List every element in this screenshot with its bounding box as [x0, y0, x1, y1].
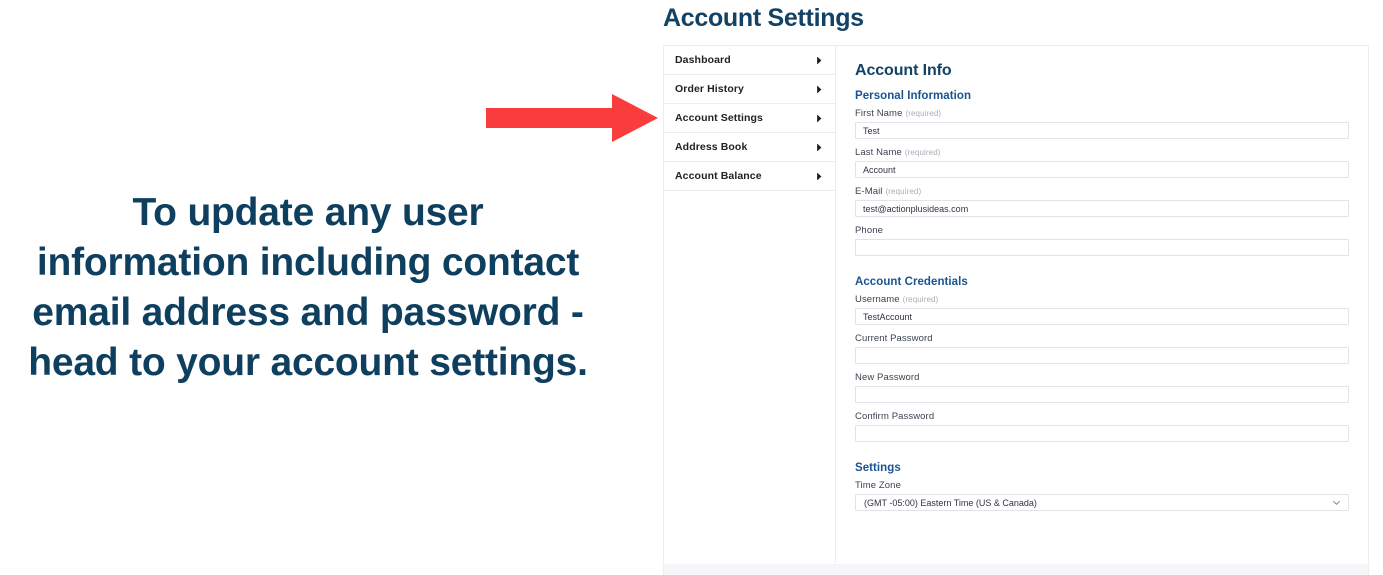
email-label-text: E-Mail: [855, 186, 883, 197]
caret-right-icon: [815, 143, 824, 152]
first-name-input[interactable]: [855, 122, 1349, 139]
sidebar-item-label: Account Balance: [675, 170, 815, 182]
annotation-caption: To update any user information including…: [28, 188, 588, 388]
new-password-label-text: New Password: [855, 372, 920, 383]
time-zone-selected-value: (GMT -05:00) Eastern Time (US & Canada): [864, 498, 1332, 508]
sidebar-item-label: Order History: [675, 83, 815, 95]
card-bottom-strip: [663, 564, 1369, 575]
page-title: Account Settings: [663, 3, 864, 33]
sidebar-item-label: Address Book: [675, 141, 815, 153]
field-row-time-zone: Time Zone (GMT -05:00) Eastern Time (US …: [855, 480, 1349, 511]
current-password-label-text: Current Password: [855, 333, 933, 344]
phone-label: Phone: [855, 225, 1349, 236]
account-sidebar: Dashboard Order History Account Settings…: [664, 46, 836, 563]
field-row-current-password: Current Password: [855, 333, 1349, 364]
sidebar-item-address-book[interactable]: Address Book: [664, 133, 835, 162]
confirm-password-label: Confirm Password: [855, 411, 1349, 422]
caret-right-icon: [815, 56, 824, 65]
sidebar-item-dashboard[interactable]: Dashboard: [664, 46, 835, 75]
sidebar-item-account-balance[interactable]: Account Balance: [664, 162, 835, 191]
sidebar-item-label: Dashboard: [675, 54, 815, 66]
confirm-password-input[interactable]: [855, 425, 1349, 442]
chevron-down-icon: [1332, 498, 1341, 507]
red-right-arrow-icon: [484, 92, 660, 144]
username-input[interactable]: [855, 308, 1349, 325]
caret-right-icon: [815, 172, 824, 181]
caret-right-icon: [815, 85, 824, 94]
account-info-heading: Account Info: [855, 62, 1349, 80]
sidebar-item-order-history[interactable]: Order History: [664, 75, 835, 104]
last-name-required-tag: (required): [905, 148, 941, 157]
last-name-label: Last Name(required): [855, 147, 1349, 158]
current-password-input[interactable]: [855, 347, 1349, 364]
confirm-password-label-text: Confirm Password: [855, 411, 934, 422]
new-password-input[interactable]: [855, 386, 1349, 403]
username-label: Username(required): [855, 294, 1349, 305]
last-name-label-text: Last Name: [855, 147, 902, 158]
last-name-input[interactable]: [855, 161, 1349, 178]
field-row-new-password: New Password: [855, 372, 1349, 403]
caret-right-icon: [815, 114, 824, 123]
email-required-tag: (required): [886, 187, 922, 196]
section-heading-personal-information: Personal Information: [855, 90, 1349, 102]
email-label: E-Mail(required): [855, 186, 1349, 197]
phone-input[interactable]: [855, 239, 1349, 256]
first-name-required-tag: (required): [905, 109, 941, 118]
section-heading-account-credentials: Account Credentials: [855, 276, 1349, 288]
sidebar-item-account-settings[interactable]: Account Settings: [664, 104, 835, 133]
first-name-label: First Name(required): [855, 108, 1349, 119]
new-password-label: New Password: [855, 372, 1349, 383]
username-required-tag: (required): [903, 295, 939, 304]
phone-label-text: Phone: [855, 225, 883, 236]
field-row-first-name: First Name(required): [855, 108, 1349, 139]
account-info-panel: Account Info Personal Information First …: [836, 46, 1368, 563]
current-password-label: Current Password: [855, 333, 1349, 344]
time-zone-select[interactable]: (GMT -05:00) Eastern Time (US & Canada): [855, 494, 1349, 511]
sidebar-item-label: Account Settings: [675, 112, 815, 124]
account-card: Dashboard Order History Account Settings…: [663, 45, 1369, 563]
field-row-confirm-password: Confirm Password: [855, 411, 1349, 442]
field-row-email: E-Mail(required): [855, 186, 1349, 217]
field-row-last-name: Last Name(required): [855, 147, 1349, 178]
field-row-username: Username(required): [855, 294, 1349, 325]
first-name-label-text: First Name: [855, 108, 902, 119]
email-input[interactable]: [855, 200, 1349, 217]
username-label-text: Username: [855, 294, 900, 305]
section-heading-settings: Settings: [855, 462, 1349, 474]
field-row-phone: Phone: [855, 225, 1349, 256]
time-zone-label: Time Zone: [855, 480, 1349, 491]
